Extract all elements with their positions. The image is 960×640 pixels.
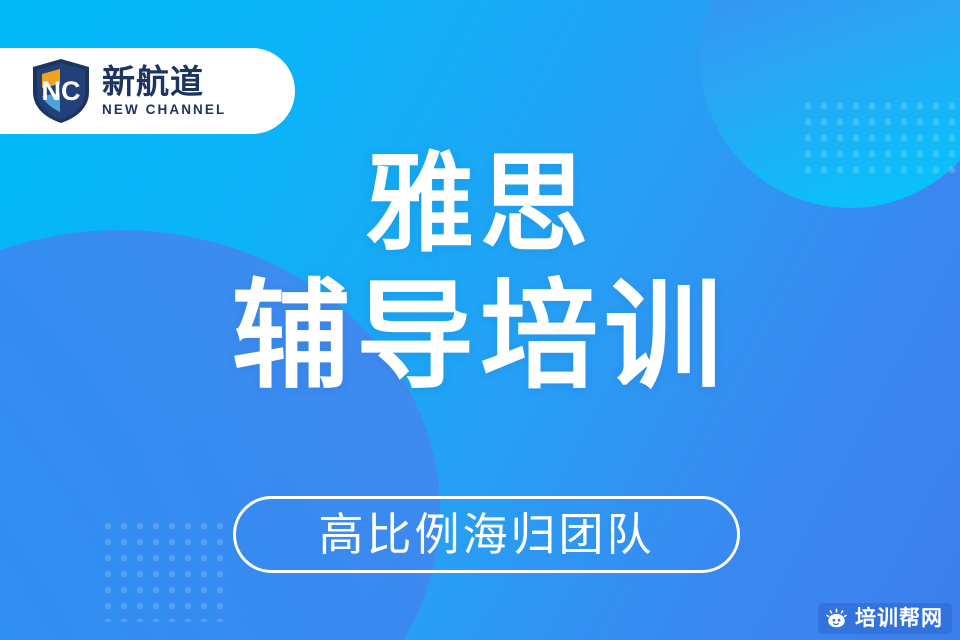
site-watermark: 培训帮网 bbox=[818, 603, 952, 634]
brand-logo-plate[interactable]: NC 新航道 NEW CHANNEL bbox=[0, 48, 295, 134]
poster-canvas: NC 新航道 NEW CHANNEL 雅思 辅导培训 高比例海归团队 bbox=[0, 0, 960, 640]
sun-face-icon bbox=[825, 607, 848, 630]
brand-logo-text: 新航道 NEW CHANNEL bbox=[102, 65, 226, 118]
site-watermark-label: 培训帮网 bbox=[855, 608, 943, 629]
brand-name-en: NEW CHANNEL bbox=[102, 102, 226, 117]
svg-text:NC: NC bbox=[42, 76, 81, 106]
brand-name-cn: 新航道 bbox=[102, 65, 226, 100]
feature-badge[interactable]: 高比例海归团队 bbox=[233, 496, 740, 573]
dot-grid-top-right bbox=[800, 98, 960, 182]
shield-icon: NC bbox=[30, 58, 92, 124]
dot-grid-bottom-left bbox=[100, 518, 228, 622]
feature-badge-label: 高比例海归团队 bbox=[318, 512, 654, 557]
